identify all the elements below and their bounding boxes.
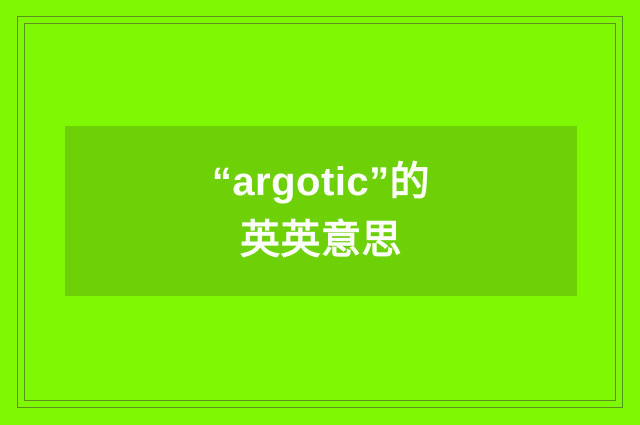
slide-canvas: “argotic”的英英意思 xyxy=(0,0,640,425)
title-panel: “argotic”的英英意思 xyxy=(65,126,577,296)
slide-title: “argotic”的英英意思 xyxy=(199,153,444,269)
